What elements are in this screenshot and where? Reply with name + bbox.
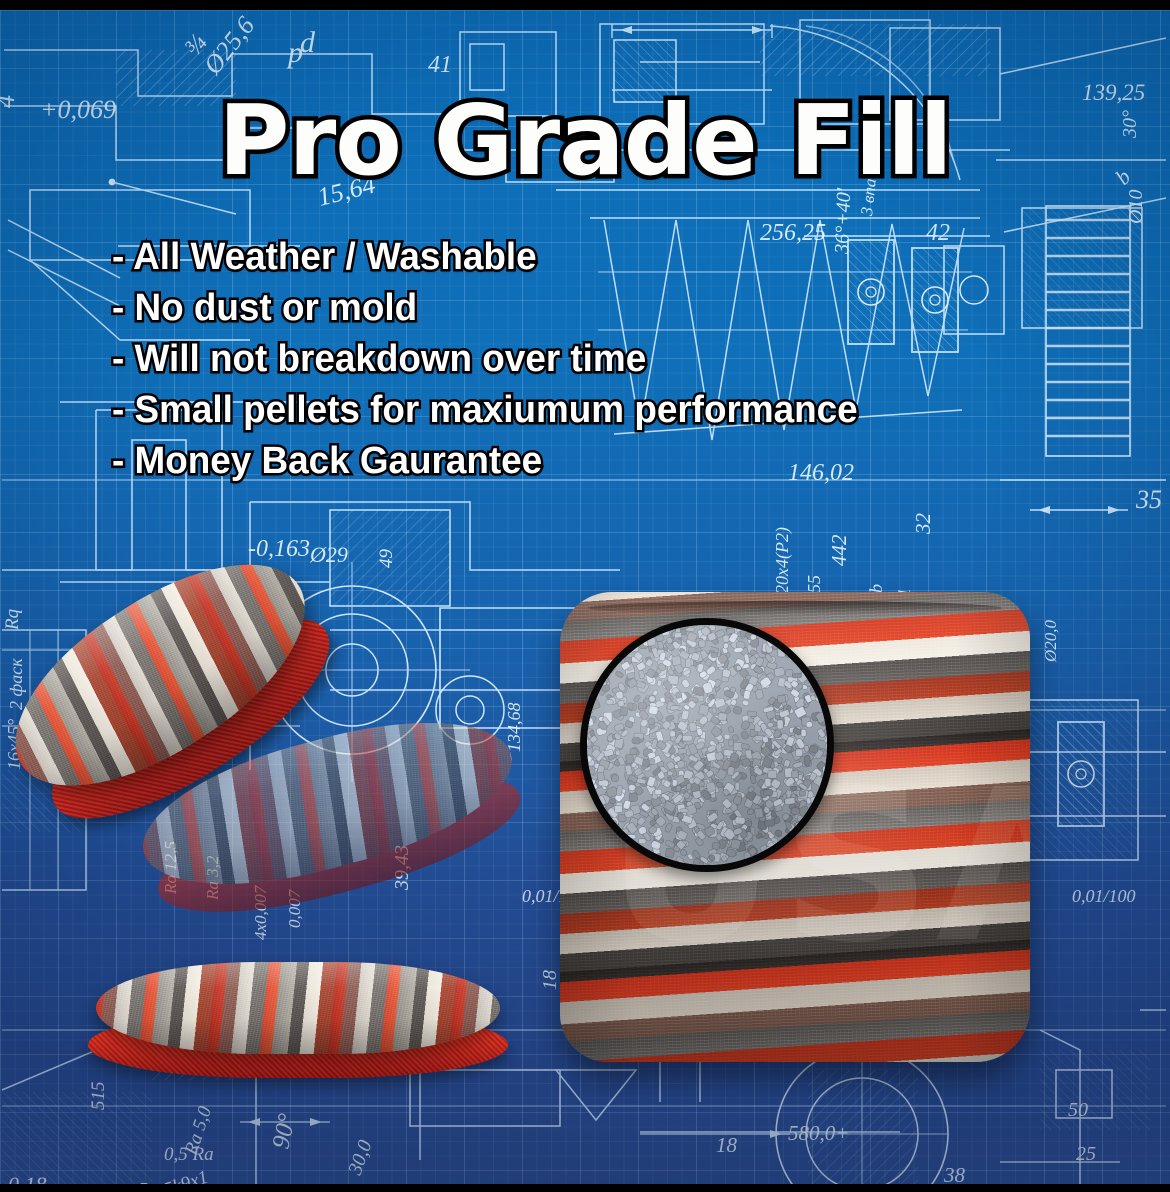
feature-list: - All Weather / Washable - No dust or mo… [112,232,1112,487]
bottom-letterbox-bar [0,1184,1170,1192]
bag-top-fabric [96,962,500,1054]
pellet-highlight [587,625,827,865]
feature-item: - All Weather / Washable [112,232,1082,283]
pro-grade-fill-advertisement: 4 +0,069 ¾ Ø25,6 p 41 d 15,64 256,25 36°… [0,0,1170,1192]
feature-item: - Will not breakdown over time [112,334,1082,385]
feature-item: - No dust or mold [112,283,1082,334]
bag-shading [96,962,500,1054]
feature-item: - Small pellets for maxiumum performance [112,385,1082,436]
cornhole-bag-profile-bottom [88,962,508,1092]
top-letterbox-bar [0,0,1170,10]
page-title: Pro Grade Fill [0,92,1170,189]
pellet-closeup-circle [580,618,834,872]
feature-item: - Money Back Gaurantee [112,436,1082,487]
